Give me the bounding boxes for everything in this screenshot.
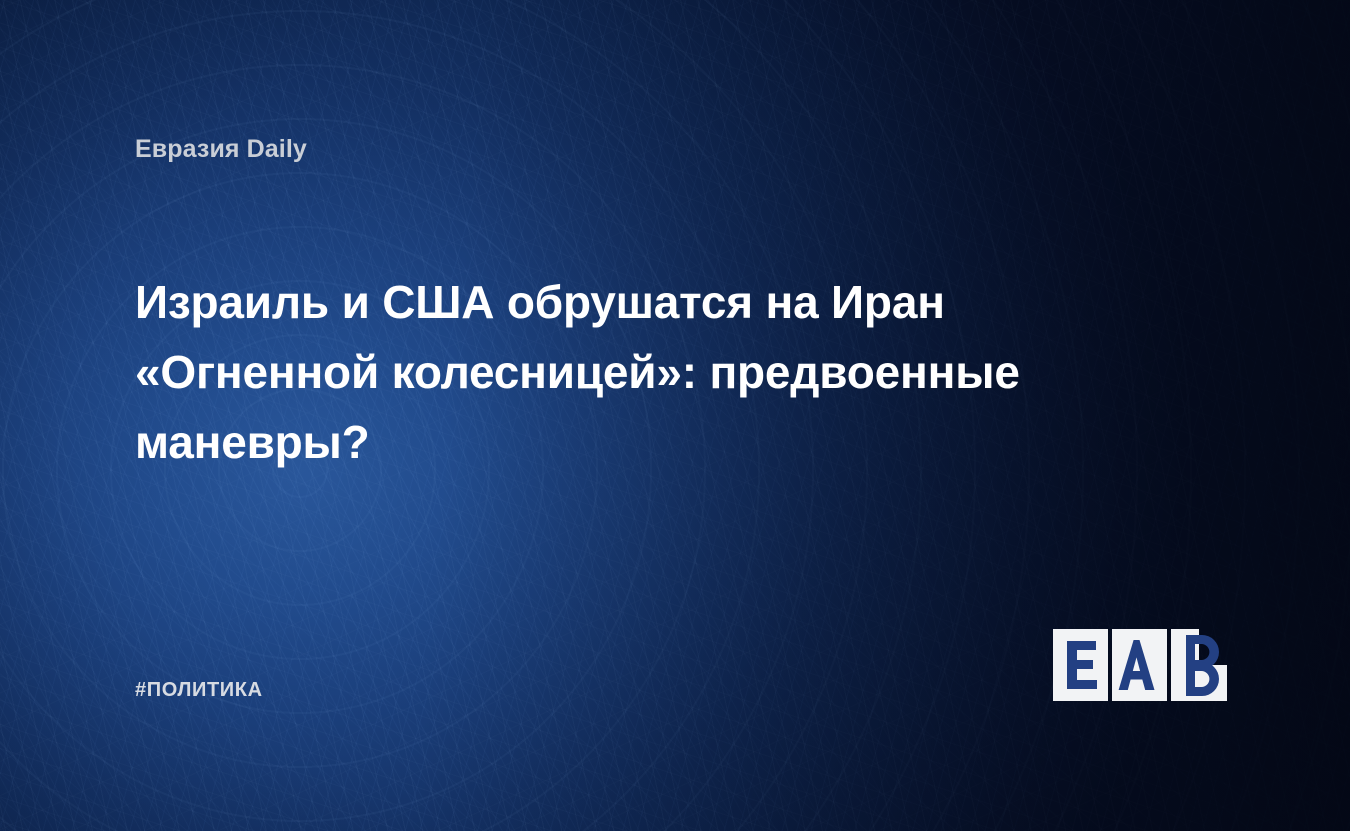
ead-logo-icon — [1053, 629, 1227, 701]
headline-line-2: «Огненной колесницей»: предвоенные — [135, 338, 1195, 408]
card-content: Евразия Daily Израиль и США обрушатся на… — [0, 0, 1350, 831]
social-share-card: Евразия Daily Израиль и США обрушатся на… — [0, 0, 1350, 831]
headline-line-1: Израиль и США обрушатся на Иран — [135, 268, 1195, 338]
headline: Израиль и США обрушатся на Иран «Огненно… — [135, 268, 1195, 478]
headline-line-3: маневры? — [135, 408, 1195, 478]
brand-wordmark: Евразия Daily — [135, 135, 307, 164]
category-hashtag: #ПОЛИТИКА — [135, 679, 263, 702]
ead-logo — [1053, 629, 1227, 701]
